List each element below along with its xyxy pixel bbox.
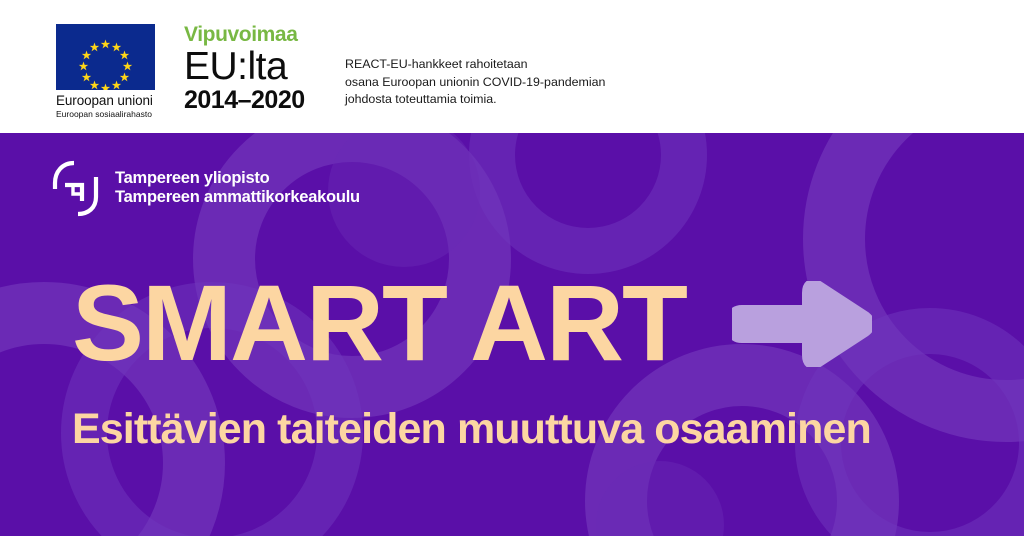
eu-flag-icon — [56, 24, 155, 90]
tampere-mark-svg — [52, 159, 104, 217]
arrow-right-icon — [732, 281, 872, 372]
tampere-university-wordmark: Tampereen yliopisto Tampereen ammattikor… — [115, 169, 360, 207]
page-subtitle: Esittävien taiteiden muuttuva osaaminen — [72, 408, 871, 451]
vipuvoimaa-line1: Vipuvoimaa — [184, 24, 314, 45]
vipuvoimaa-line2: EU:lta — [184, 47, 314, 87]
funding-note: REACT-EU-hankkeet rahoitetaan osana Euro… — [345, 56, 605, 109]
eu-caption-main: Euroopan unioni — [56, 93, 156, 108]
tampere-line-1: Tampereen yliopisto — [115, 169, 360, 188]
tampere-university-logo: Tampereen yliopisto Tampereen ammattikor… — [52, 159, 360, 217]
tampere-university-mark — [52, 159, 104, 217]
tampere-line-2: Tampereen ammattikorkeakoulu — [115, 188, 360, 207]
eu-emblem-block: Euroopan unioni Euroopan sosiaalirahasto — [56, 24, 156, 119]
arrow-right-svg — [732, 281, 872, 367]
headline-row: SMART ART — [72, 269, 872, 377]
page-title: SMART ART — [72, 269, 686, 377]
funding-header: Euroopan unioni Euroopan sosiaalirahasto… — [0, 0, 1024, 133]
vipuvoimaa-logo: Vipuvoimaa EU:lta 2014–2020 — [184, 24, 314, 113]
funding-note-line-1: REACT-EU-hankkeet rahoitetaan — [345, 56, 605, 74]
smart-art-banner: Euroopan unioni Euroopan sosiaalirahasto… — [0, 0, 1024, 536]
hero-section: Tampereen yliopisto Tampereen ammattikor… — [0, 133, 1024, 536]
funding-note-line-2: osana Euroopan unionin COVID-19-pandemia… — [345, 74, 605, 92]
funding-note-line-3: johdosta toteuttamia toimia. — [345, 91, 605, 109]
eu-caption-sub: Euroopan sosiaalirahasto — [56, 109, 156, 119]
eu-stars-svg — [56, 24, 155, 90]
vipuvoimaa-line3: 2014–2020 — [184, 88, 314, 113]
